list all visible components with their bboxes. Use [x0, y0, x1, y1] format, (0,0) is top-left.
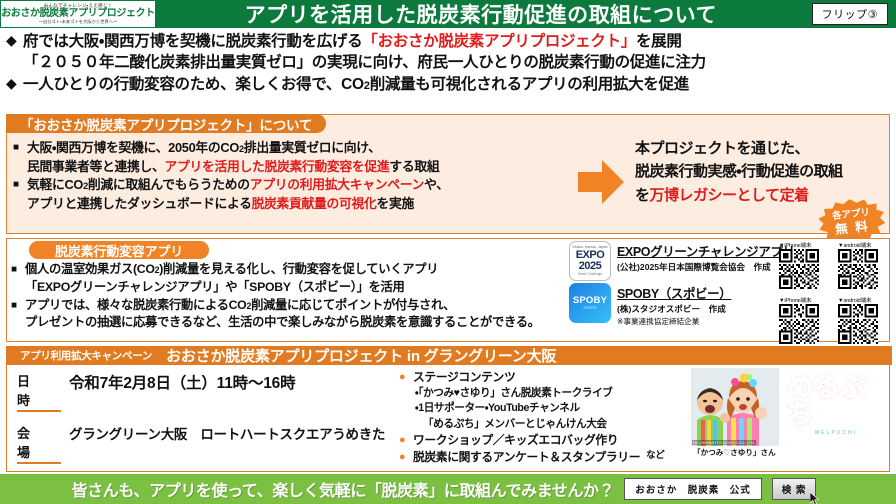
pb1l2-highlight: アプリを活用した脱炭素行動変容を促進 — [164, 159, 389, 174]
project-bullet-1-line-1: ■ 大阪・関西万博を契機に、2050年のCO2排出量実質ゼロに向け、 — [13, 139, 582, 158]
section-apps-header: 脱炭素行動変容アプリ — [29, 241, 209, 259]
pb2l1-highlight: アプリの利用拡大キャンペーン — [250, 177, 424, 192]
project-bullet-1-line-2: 民間事業者等と連携し、アプリを活用した脱炭素行動変容を促進する取組 — [13, 158, 582, 177]
pb1l2-a: 民間事業者等と連携し、 — [27, 159, 164, 174]
ab2l1-a: アプリでは、様々な脱炭素行動によるCO — [25, 298, 246, 312]
search-button-label: 検 索 — [782, 485, 807, 496]
qr-expo-iphone[interactable]: ▼iPhone端末 — [779, 241, 832, 294]
qr-label-android: ▼android端末 — [838, 296, 891, 304]
tb1-part-a: 府では大阪・関西万博を契機に脱炭素行動を広げる — [23, 33, 362, 50]
guest-photo: NICOSHIMOTO KOGYO CO.,LTD. — [691, 368, 779, 446]
section-apps-bullets: ■ 個人の温室効果ガス(CO2)削減量を見える化し、行動変容を促していくアプリ … — [11, 261, 567, 332]
tb3-part-a: 一人ひとりの行動変容のため、楽しくお得で、CO — [23, 76, 364, 93]
tb1-part-b: を展開 — [636, 33, 682, 50]
pb2l2-b: を実施 — [377, 196, 415, 211]
pb2l2-a: アプリと連携したダッシュボードによる — [27, 196, 252, 211]
apps-bullet-2-line-1: ■ アプリでは、様々な脱炭素行動によるCO2削減量に応じてポイントが付与され、 — [11, 297, 567, 315]
top-bullet-2: 「２０５０年二酸化炭素排出量実質ゼロ」の実現に向け、府民一人ひとりの脱炭素行動の… — [6, 52, 890, 73]
campaign-label-venue: 会 場 — [17, 423, 61, 464]
section-project: 「おおさか脱炭素アプリプロジェクト」について ■ 大阪・関西万博を契機に、205… — [6, 114, 890, 234]
ab1l1-text: 個人の温室効果ガス(CO2)削減量を見える化し、行動変容を促していくアプリ — [25, 261, 438, 279]
ab2l1-text: アプリでは、様々な脱炭素行動によるCO2削減量に応じてポイントが付与され、 — [25, 297, 455, 315]
section-apps: 脱炭素行動変容アプリ ■ 個人の温室効果ガス(CO2)削減量を見える化し、行動変… — [6, 238, 890, 342]
ab2l2-text: プレゼントの抽選に応募できるなど、生活の中で楽しみながら脱炭素を意識することがで… — [25, 314, 540, 332]
pb2l1-a: 気軽にCO — [27, 177, 83, 192]
apps-bullet-1-line-2: 「EXPOグリーンチャレンジアプリ」や「SPOBY（スポビー）」を活用 — [11, 279, 567, 297]
slide-footer: 皆さんも、アプリを使って、楽しく気軽に「脱炭素」に取組んでみませんか？ おおさか… — [0, 474, 896, 504]
spoby-app-icon: SPOBY SPORTS — [569, 283, 611, 323]
apps-bullet-1-line-1: ■ 個人の温室効果ガス(CO2)削減量を見える化し、行動変容を促していくアプリ — [11, 261, 567, 279]
pb2l1-b: 削減に取組んでもらうための — [88, 177, 250, 192]
apps-bullet-2-line-2: プレゼントの抽選に応募できるなど、生活の中で楽しみながら脱炭素を意識することがで… — [11, 314, 567, 332]
pb1l1-b: 排出量実質ゼロに向け、 — [244, 140, 381, 155]
program-sub-janken: 「めるぷち」メンバーとじゃんけん大会 — [399, 417, 699, 432]
qr-code-grid: ▼iPhone端末 — [779, 241, 891, 351]
campaign-header-big: おおさか脱炭素アプリプロジェクト in グラングリーン大阪 — [152, 345, 556, 366]
campaign-header-small: アプリ利用拡大キャンペーン — [6, 348, 152, 363]
program-stage-text: ステージコンテンツ — [413, 369, 515, 386]
top-bullet-1: ◆ 府では大阪・関西万博を契機に脱炭素行動を広げる「おおさか脱炭素アプリプロジェ… — [6, 31, 890, 52]
campaign-label-date: 日 時 — [17, 371, 61, 412]
diamond-bullet-icon: ◆ — [6, 31, 23, 50]
expo-app-icon: Osaka, Kansai, Japan EXPO 2025 Green Cha… — [569, 241, 611, 281]
program-survey-suffix: など — [640, 449, 664, 463]
project-bullet-2-line-2: アプリと連携したダッシュボードによる脱炭素貢献量の可視化を実施 — [13, 195, 582, 214]
section-project-header: 「おおさか脱炭素アプリプロジェクト」について — [6, 114, 326, 133]
top-bullet-3: ◆ 一人ひとりの行動変容のため、楽しくお得で、CO2削減量も可視化されるアプリの… — [6, 74, 890, 95]
pb2l1-text: 気軽にCO2削減に取組んでもらうためのアプリの利用拡大キャンペーンや、 — [27, 176, 449, 195]
guest-photo-illustration — [691, 368, 779, 446]
ab1l1-b: )削減量を見える化し、行動変容を促していくアプリ — [159, 262, 438, 276]
expo-icon-line2: EXPO — [576, 250, 605, 261]
qr-code-icon — [779, 249, 819, 289]
pb1l2-b: する取組 — [389, 159, 439, 174]
search-button[interactable]: 検 索 — [772, 478, 817, 500]
program-item-workshop: ● ワークショップ／キッズエコバッグ作り — [399, 432, 699, 449]
spoby-icon-line2: SPORTS — [583, 307, 596, 310]
section-project-bullets: ■ 大阪・関西万博を契機に、2050年のCO2排出量実質ゼロに向け、 民間事業者… — [7, 135, 582, 213]
pb1l1-text: 大阪・関西万博を契機に、2050年のCO2排出量実質ゼロに向け、 — [27, 139, 381, 158]
program-item-stage: ● ステージコンテンツ — [399, 369, 699, 386]
qr-code-icon — [779, 304, 819, 344]
dot-bullet-icon: ● — [399, 449, 413, 466]
meru-logo-text: めるぷち — [787, 374, 885, 428]
dot-bullet-icon: ● — [399, 369, 413, 386]
campaign-value-date: 令和7年2月8日（土）11時～16時 — [69, 371, 295, 393]
project-bullet-2-line-1: ■ 気軽にCO2削減に取組んでもらうためのアプリの利用拡大キャンペーンや、 — [13, 176, 582, 195]
pb2l1-c: や、 — [424, 177, 449, 192]
tb1-highlight: 「おおさか脱炭素アプリプロジェクト」 — [362, 33, 636, 50]
pb1l2-text: 民間事業者等と連携し、アプリを活用した脱炭素行動変容を促進する取組 — [27, 158, 439, 177]
qr-row-expo: ▼iPhone端末 — [779, 241, 891, 294]
campaign-value-venue: グラングリーン大阪 ロートハートスクエアうめきた — [69, 423, 385, 443]
program-workshop-text: ワークショップ／キッズエコバッグ作り — [413, 432, 618, 449]
outcome-l3-a: を — [635, 187, 650, 204]
qr-code-icon — [838, 249, 878, 289]
pb1l1-a: 大阪・関西万博を契機に、2050年のCO — [27, 140, 239, 155]
campaign-header: アプリ利用拡大キャンペーン おおさか脱炭素アプリプロジェクト in グラングリー… — [6, 346, 892, 365]
badge-line-2: 無 料 — [835, 219, 871, 238]
campaign-row-venue: 会 場 グラングリーン大阪 ロートハートスクエアうめきた — [17, 423, 397, 464]
qr-label-iphone: ▼iPhone端末 — [779, 296, 832, 304]
section-campaign: アプリ利用拡大キャンペーン おおさか脱炭素アプリプロジェクト in グラングリー… — [6, 346, 890, 472]
project-outcome-text: 本プロジェクトを通じた、 脱炭素行動実感・行動促進の取組 を万博レガシーとして定… — [635, 137, 889, 207]
program-item-survey: ● 脱炭素に関するアンケート＆スタンプラリー など — [399, 449, 699, 466]
expo-icon-line3: 2025 — [579, 261, 601, 272]
campaign-program-list: ● ステージコンテンツ ・「かつみ♥さゆり」さん脱炭素トークライブ ・1日サポー… — [399, 369, 699, 466]
program-sub-youtube: ・1日サポーター・YouTubeチャンネル — [399, 401, 699, 416]
qr-code-icon — [838, 304, 878, 344]
program-survey-text: 脱炭素に関するアンケート＆スタンプラリー — [413, 449, 640, 466]
program-sub-talklive: ・「かつみ♥さゆり」さん脱炭素トークライブ — [399, 386, 699, 401]
slide-header: みんなでチャレンジ・ええ感じ！ おおさか脱炭素アプリプロジェクト ～自分ゴト・未… — [0, 0, 896, 28]
campaign-photo-area: NICOSHIMOTO KOGYO CO.,LTD. 「かつみ♡さゆり」さん め… — [691, 368, 887, 468]
pb2l2-highlight: 脱炭素貢献量の可視化 — [252, 196, 377, 211]
top-bullet-2-text: 「２０５０年二酸化炭素排出量実質ゼロ」の実現に向け、府民一人ひとりの脱炭素行動の… — [23, 52, 706, 73]
project-logo: みんなでチャレンジ・ええ感じ！ おおさか脱炭素アプリプロジェクト ～自分ゴト・未… — [0, 0, 156, 28]
expo-icon-line4: Green Challenge — [578, 273, 602, 276]
top-bullets: ◆ 府では大阪・関西万博を契機に脱炭素行動を広げる「おおさか脱炭素アプリプロジェ… — [0, 28, 896, 112]
diamond-bullet-icon: ◆ — [6, 74, 23, 93]
mouse-cursor-icon — [810, 492, 820, 504]
meru-logo-subtext: MELPUCHI — [815, 430, 857, 436]
logo-tagline-bottom: ～自分ゴト・未来ゴトを大阪から世界へ～ — [39, 20, 118, 24]
qr-label-android: ▼android端末 — [838, 241, 891, 249]
ab1l1-a: 個人の温室効果ガス(CO — [25, 262, 155, 276]
campaign-row-date: 日 時 令和7年2月8日（土）11時～16時 — [17, 371, 397, 412]
outcome-line-1: 本プロジェクトを通じた、 — [635, 137, 889, 160]
search-input[interactable]: おおさか 脱炭素 公式 — [624, 478, 762, 500]
right-arrow-icon — [578, 160, 624, 204]
qr-spoby-android[interactable]: ▼android端末 — [838, 296, 891, 349]
top-bullet-3-text: 一人ひとりの行動変容のため、楽しくお得で、CO2削減量も可視化されるアプリの利用… — [23, 74, 689, 95]
outcome-l3-highlight: 万博レガシーとして定着 — [650, 187, 809, 204]
qr-row-spoby: ▼iPhone端末 — [779, 296, 891, 349]
qr-spoby-iphone[interactable]: ▼iPhone端末 — [779, 296, 832, 349]
ab2l1-b: 削減量に応じてポイントが付与され、 — [251, 298, 455, 312]
slide-root: みんなでチャレンジ・ええ感じ！ おおさか脱炭素アプリプロジェクト ～自分ゴト・未… — [0, 0, 896, 504]
flip-number-badge: フリップ③ — [812, 3, 888, 25]
qr-expo-android[interactable]: ▼android端末 — [838, 241, 891, 294]
meru-logo: めるぷち MELPUCHI — [787, 374, 885, 436]
photo-caption: 「かつみ♡さゆり」さん — [693, 447, 776, 458]
square-bullet-icon: ■ — [11, 261, 25, 278]
spoby-icon-line1: SPOBY — [573, 296, 607, 306]
dot-bullet-icon: ● — [399, 432, 413, 449]
square-bullet-icon: ■ — [13, 176, 27, 193]
pb2l2-text: アプリと連携したダッシュボードによる脱炭素貢献量の可視化を実施 — [27, 195, 414, 214]
ab1l2-text: 「EXPOグリーンチャレンジアプリ」や「SPOBY（スポビー）」を活用 — [25, 279, 405, 297]
square-bullet-icon: ■ — [13, 139, 27, 156]
photo-credit: NICOSHIMOTO KOGYO CO.,LTD. — [692, 440, 756, 445]
tb3-part-b: 削減量も可視化されるアプリの利用拡大を促進 — [370, 76, 689, 93]
footer-message: 皆さんも、アプリを使って、楽しく気軽に「脱炭素」に取組んでみませんか？ — [72, 477, 615, 501]
logo-main-text: おおさか脱炭素アプリプロジェクト — [1, 9, 155, 19]
top-bullet-1-text: 府では大阪・関西万博を契機に脱炭素行動を広げる「おおさか脱炭素アプリプロジェクト… — [23, 31, 682, 52]
page-title: アプリを活用した脱炭素行動促進の取組について — [156, 0, 812, 29]
square-bullet-icon: ■ — [11, 297, 25, 314]
outcome-line-2: 脱炭素行動実感・行動促進の取組 — [635, 160, 889, 183]
qr-label-iphone: ▼iPhone端末 — [779, 241, 832, 249]
